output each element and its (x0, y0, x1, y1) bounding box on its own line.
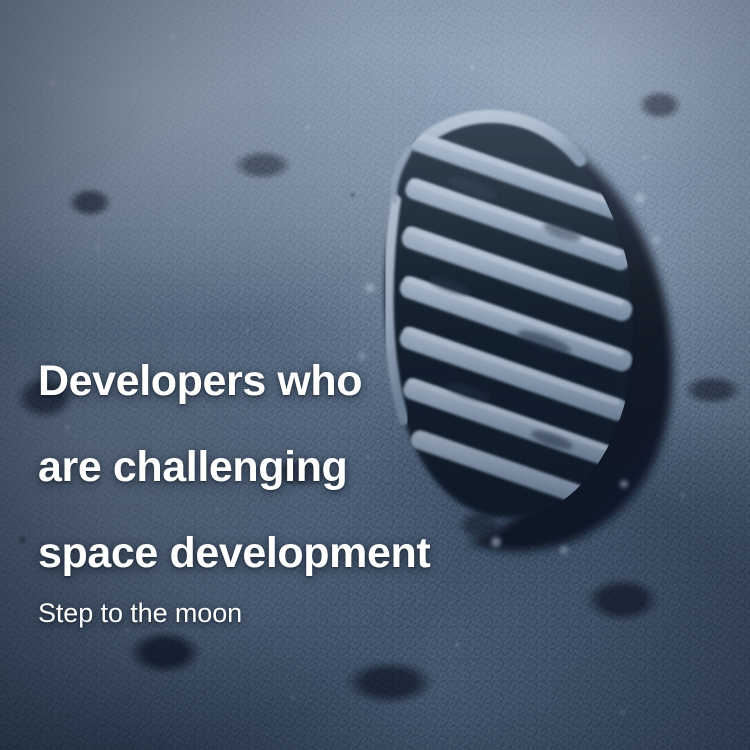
hero-banner: Developers who are challenging space dev… (0, 0, 750, 750)
hero-copy-block: Developers who are challenging space dev… (38, 338, 698, 630)
headline-line-1: Developers who (38, 338, 698, 424)
headline-line-2: are challenging (38, 424, 698, 510)
headline-line-3: space development (38, 510, 698, 596)
hero-headline: Developers who are challenging space dev… (38, 338, 698, 596)
hero-subtitle: Step to the moon (38, 596, 698, 630)
